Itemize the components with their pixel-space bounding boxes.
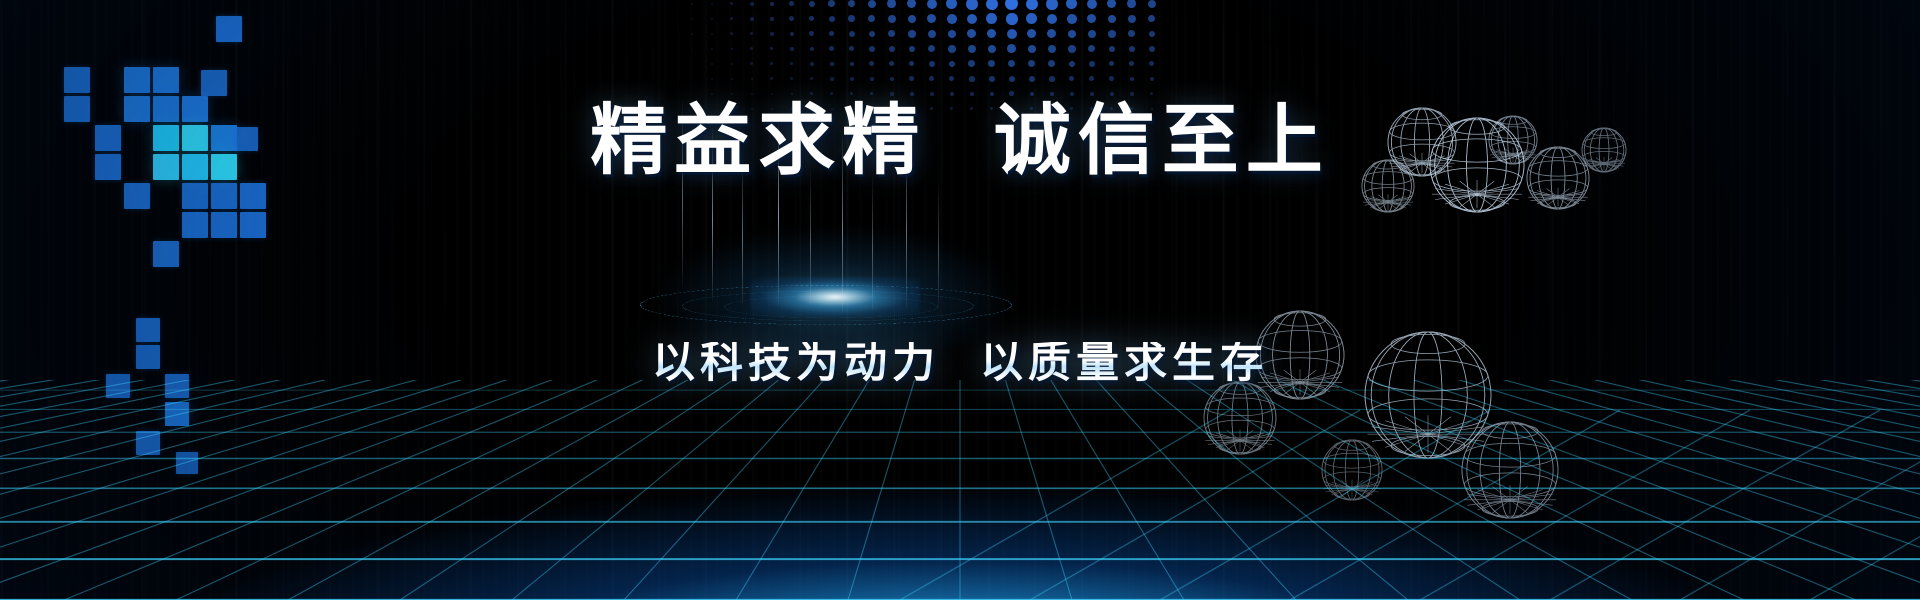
halftone-dot bbox=[848, 15, 855, 22]
halftone-dot bbox=[988, 45, 996, 53]
mosaic-square bbox=[211, 183, 237, 209]
halftone-dot bbox=[829, 46, 834, 51]
halftone-dot bbox=[968, 45, 976, 53]
halftone-dot bbox=[850, 92, 853, 95]
halftone-dot bbox=[1109, 61, 1115, 67]
halftone-dot bbox=[1148, 15, 1155, 22]
halftone-dot bbox=[711, 93, 713, 95]
floor-grid-lines bbox=[0, 380, 1920, 600]
mosaic-square bbox=[182, 212, 208, 238]
halftone-dot bbox=[1107, 0, 1116, 8]
halftone-dot bbox=[949, 61, 955, 67]
halftone-dot bbox=[849, 31, 855, 37]
halftone-dot bbox=[929, 76, 934, 81]
halftone-dot bbox=[1068, 45, 1076, 53]
halftone-dot bbox=[1049, 76, 1055, 82]
halftone-dot bbox=[828, 0, 835, 7]
halftone-dot bbox=[691, 33, 693, 35]
halftone-dot bbox=[890, 77, 894, 81]
halftone-dot bbox=[1008, 60, 1015, 67]
halftone-dot bbox=[809, 16, 814, 21]
pixel-mosaic-squares bbox=[0, 0, 320, 520]
halftone-dot bbox=[810, 47, 814, 51]
halftone-dot bbox=[790, 77, 793, 80]
halftone-dot bbox=[1108, 30, 1116, 38]
halftone-dot bbox=[711, 48, 713, 50]
halftone-dot bbox=[929, 61, 935, 67]
halftone-dot bbox=[730, 2, 733, 5]
mosaic-square bbox=[153, 67, 179, 93]
halftone-dot bbox=[1108, 15, 1117, 24]
halftone-dot bbox=[770, 2, 775, 7]
halftone-dot bbox=[869, 31, 876, 38]
halftone-dot bbox=[770, 47, 773, 50]
energy-portal-glow bbox=[620, 195, 1040, 425]
halftone-dot bbox=[1069, 61, 1075, 67]
halftone-dot bbox=[949, 76, 954, 81]
halftone-dot bbox=[790, 62, 793, 65]
halftone-dot bbox=[1067, 14, 1077, 24]
halftone-dot bbox=[947, 14, 957, 24]
halftone-dot bbox=[1109, 46, 1116, 53]
halftone-dot bbox=[770, 32, 774, 36]
portal-core-light bbox=[750, 277, 920, 317]
halftone-dot bbox=[966, 0, 978, 10]
halftone-dot bbox=[731, 93, 733, 95]
portal-ring-outer bbox=[640, 285, 1012, 325]
halftone-dot bbox=[730, 32, 733, 35]
halftone-dot bbox=[868, 15, 875, 22]
halftone-dot bbox=[1130, 77, 1134, 81]
halftone-dot bbox=[1027, 29, 1037, 39]
halftone-dot bbox=[889, 46, 895, 52]
halftone-dot bbox=[909, 76, 914, 81]
halftone-dot bbox=[907, 0, 916, 8]
halftone-dot bbox=[711, 78, 713, 80]
mosaic-square bbox=[64, 67, 90, 93]
halftone-dot bbox=[809, 31, 814, 36]
halftone-dot bbox=[1150, 77, 1154, 81]
mosaic-square bbox=[240, 183, 266, 209]
halftone-dot bbox=[731, 48, 734, 51]
halftone-dot bbox=[1026, 0, 1038, 10]
halftone-dot bbox=[1087, 0, 1097, 9]
halftone-dot bbox=[691, 48, 693, 50]
halftone-dot bbox=[909, 61, 915, 67]
floor-glow bbox=[0, 410, 1920, 600]
mosaic-square bbox=[124, 183, 150, 209]
portal-beam bbox=[810, 165, 811, 307]
halftone-dot bbox=[888, 15, 896, 23]
halftone-dot bbox=[869, 46, 875, 52]
halftone-dot bbox=[750, 2, 754, 6]
mosaic-square bbox=[165, 402, 189, 426]
halftone-dot bbox=[1129, 46, 1135, 52]
halftone-dot bbox=[1029, 76, 1035, 82]
vertical-streak-texture bbox=[0, 0, 1920, 600]
halftone-dot bbox=[1047, 14, 1057, 24]
halftone-dot bbox=[887, 0, 896, 8]
halftone-dot bbox=[927, 14, 936, 23]
mosaic-square bbox=[211, 212, 237, 238]
halftone-dot bbox=[870, 92, 873, 95]
mosaic-square bbox=[240, 212, 266, 238]
halftone-dot bbox=[989, 76, 995, 82]
halftone-dot bbox=[1026, 13, 1037, 24]
wireframe-globe-cluster bbox=[0, 0, 1920, 600]
halftone-dot bbox=[1005, 0, 1018, 10]
halftone-dot bbox=[750, 17, 754, 21]
halftone-dot bbox=[969, 76, 975, 82]
halftone-dot bbox=[751, 93, 753, 95]
halftone-dot bbox=[1028, 45, 1036, 53]
halftone-dot bbox=[770, 62, 773, 65]
halftone-dot bbox=[1129, 61, 1134, 66]
halftone-dot bbox=[691, 18, 693, 20]
halftone-dot bbox=[1088, 30, 1096, 38]
halftone-dot bbox=[948, 45, 956, 53]
halftone-dot bbox=[909, 46, 916, 53]
halftone-dot bbox=[790, 47, 794, 51]
halftone-dot bbox=[967, 29, 976, 38]
mosaic-square bbox=[216, 16, 242, 42]
halftone-dot bbox=[711, 63, 713, 65]
halftone-dot bbox=[1130, 92, 1134, 96]
halftone-dot bbox=[1128, 30, 1135, 37]
halftone-dot bbox=[791, 93, 794, 96]
halftone-dot bbox=[830, 62, 834, 66]
halftone-dot bbox=[870, 77, 874, 81]
portal-beam bbox=[872, 173, 873, 311]
page-title: 精益求精 诚信至上 bbox=[0, 103, 1920, 180]
halftone-dot bbox=[1066, 0, 1077, 9]
halftone-dot bbox=[1088, 45, 1095, 52]
halftone-dot bbox=[789, 1, 794, 6]
mosaic-square bbox=[153, 241, 179, 267]
halftone-dot bbox=[750, 62, 753, 65]
halftone-dot bbox=[789, 16, 794, 21]
halftone-dot bbox=[986, 0, 998, 10]
halftone-dot bbox=[849, 46, 854, 51]
halftone-dot bbox=[967, 14, 977, 24]
wireframe-globe-icon bbox=[1320, 438, 1384, 502]
halftone-dot bbox=[1028, 60, 1035, 67]
halftone-dot bbox=[986, 13, 997, 24]
halftone-dot bbox=[987, 29, 997, 39]
halftone-dot bbox=[829, 16, 835, 22]
halftone-dot bbox=[850, 62, 855, 67]
halftone-dot bbox=[1048, 45, 1056, 53]
halftone-dot bbox=[1047, 29, 1056, 38]
mosaic-square bbox=[201, 70, 227, 96]
halftone-dot bbox=[1009, 76, 1015, 82]
portal-ring-inner bbox=[724, 296, 938, 318]
wireframe-globe-icon bbox=[1202, 380, 1278, 456]
halftone-dot bbox=[731, 78, 733, 80]
vignette-overlay bbox=[0, 0, 1920, 600]
halftone-dot bbox=[830, 77, 834, 81]
halftone-dot bbox=[848, 0, 855, 7]
halftone-dot bbox=[1148, 0, 1156, 8]
halftone-dot bbox=[829, 31, 834, 36]
halftone-dot bbox=[770, 17, 774, 21]
halftone-dot bbox=[730, 17, 733, 20]
vertical-light-lines bbox=[0, 0, 1920, 600]
halftone-dot bbox=[711, 18, 713, 20]
halftone-dot bbox=[809, 1, 815, 7]
halftone-dot bbox=[908, 30, 916, 38]
halftone-dot bbox=[946, 0, 957, 9]
halftone-dot bbox=[948, 30, 957, 39]
halftone-dot bbox=[810, 77, 813, 80]
halftone-dot bbox=[750, 32, 753, 35]
halftone-dot bbox=[1006, 13, 1018, 25]
halftone-dot bbox=[1089, 61, 1095, 67]
halftone-dot bbox=[908, 15, 917, 24]
halftone-dot bbox=[1069, 76, 1074, 81]
halftone-dot bbox=[928, 45, 935, 52]
halftone-dot bbox=[988, 60, 995, 67]
portal-beam bbox=[938, 181, 939, 309]
mosaic-square bbox=[176, 452, 198, 474]
halftone-dot bbox=[691, 3, 693, 5]
halftone-dot bbox=[830, 92, 833, 95]
halftone-dot bbox=[1150, 92, 1153, 95]
halftone-dot bbox=[888, 30, 895, 37]
halftone-dot bbox=[770, 77, 773, 80]
halftone-dot bbox=[1127, 0, 1136, 8]
halftone-dot bbox=[1048, 60, 1055, 67]
halftone-dot bbox=[1089, 76, 1094, 81]
halftone-dot bbox=[928, 30, 936, 38]
halftone-dot bbox=[1149, 46, 1155, 52]
halftone-dot bbox=[850, 77, 854, 81]
halftone-dot bbox=[771, 93, 773, 95]
halftone-dot bbox=[1149, 61, 1154, 66]
halftone-dot bbox=[1068, 30, 1077, 39]
halftone-dot bbox=[1046, 0, 1058, 10]
mosaic-square bbox=[136, 431, 160, 455]
perspective-grid-floor bbox=[0, 380, 1920, 600]
wireframe-globe-icon bbox=[1460, 420, 1560, 520]
halftone-dot bbox=[711, 33, 713, 35]
halftone-dot bbox=[869, 61, 874, 66]
halftone-dot bbox=[1149, 31, 1156, 38]
halftone-dot bbox=[731, 63, 733, 65]
halftone-dot bbox=[889, 61, 894, 66]
halftone-dot bbox=[1007, 44, 1016, 53]
halftone-dot bbox=[790, 32, 794, 36]
portal-ring-mid bbox=[682, 291, 974, 321]
mosaic-square bbox=[136, 318, 160, 342]
halftone-dot bbox=[1109, 76, 1114, 81]
halftone-dot bbox=[890, 92, 894, 96]
halftone-dot bbox=[810, 92, 813, 95]
halftone-dot bbox=[1087, 14, 1096, 23]
halftone-dot bbox=[968, 60, 975, 67]
page-subtitle: 以科技为动力 以质量求生存 bbox=[0, 342, 1920, 385]
mosaic-square bbox=[182, 183, 208, 209]
halftone-dot bbox=[750, 47, 753, 50]
halftone-dot bbox=[927, 0, 937, 9]
halftone-dot bbox=[751, 78, 753, 80]
halftone-dot bbox=[868, 0, 876, 8]
halftone-dot bbox=[1007, 29, 1017, 39]
hero-banner: 精益求精 诚信至上 以科技为动力 以质量求生存 bbox=[0, 0, 1920, 600]
halftone-dot bbox=[711, 3, 714, 6]
halftone-dot bbox=[810, 62, 814, 66]
mosaic-square bbox=[124, 67, 150, 93]
halftone-dot bbox=[1128, 15, 1136, 23]
